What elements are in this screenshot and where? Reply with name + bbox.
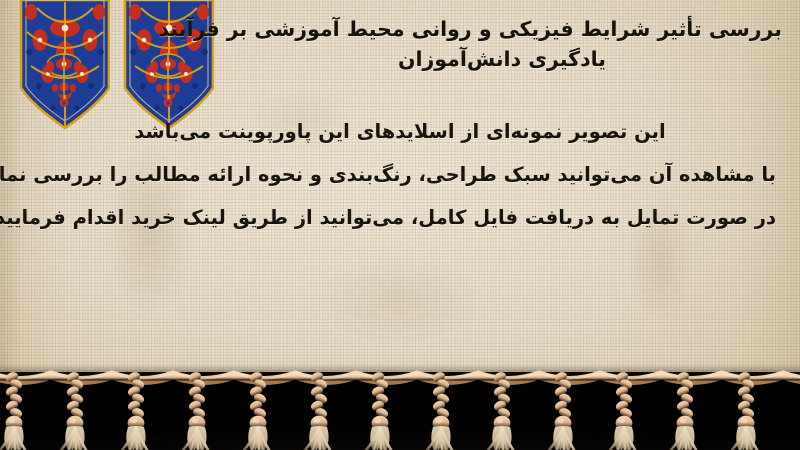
slide-title: بررسی تأثیر شرایط فیزیکی و روانی محیط آم… [222, 14, 782, 74]
slide-title-line-1: بررسی تأثیر شرایط فیزیکی و روانی محیط آم… [222, 14, 782, 44]
slide-canvas: بررسی تأثیر شرایط فیزیکی و روانی محیط آم… [0, 0, 800, 450]
slide-body-text: این تصویر نمونه‌ای از اسلایدهای این پاور… [24, 110, 776, 239]
slide-title-line-2: یادگیری دانش‌آموزان [222, 44, 782, 74]
slide-body-line-2: با مشاهده آن می‌توانید سبک طراحی، رنگ‌بن… [24, 153, 776, 196]
slide-body-line-3: در صورت تمایل به دریافت فایل کامل، می‌تو… [24, 196, 776, 239]
tassel-fringe-border [0, 364, 800, 450]
fringe-rope-tassels [0, 364, 800, 450]
slide-body-line-1: این تصویر نمونه‌ای از اسلایدهای این پاور… [24, 110, 776, 153]
